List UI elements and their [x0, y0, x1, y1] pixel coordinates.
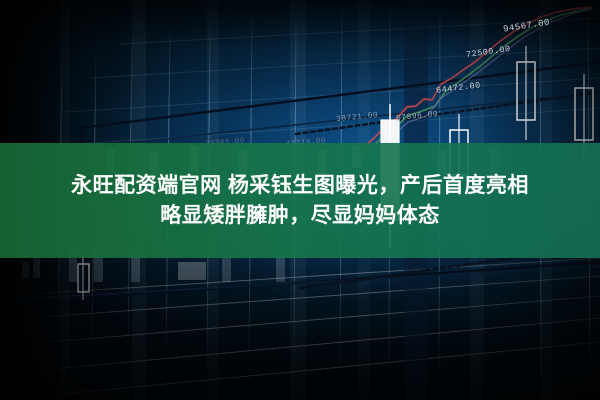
headline-line-2: 略显矮胖臃肿，尽显妈妈体态 [160, 201, 440, 231]
trading-chart-banner: 94567.00 72500.00 67896.00 64472.00 3872… [0, 0, 600, 400]
headline-line-1: 永旺配资端官网 杨采钰生图曝光，产后首度亮相 [71, 171, 529, 201]
headline-band: 永旺配资端官网 杨采钰生图曝光，产后首度亮相 略显矮胖臃肿，尽显妈妈体态 [0, 143, 600, 258]
